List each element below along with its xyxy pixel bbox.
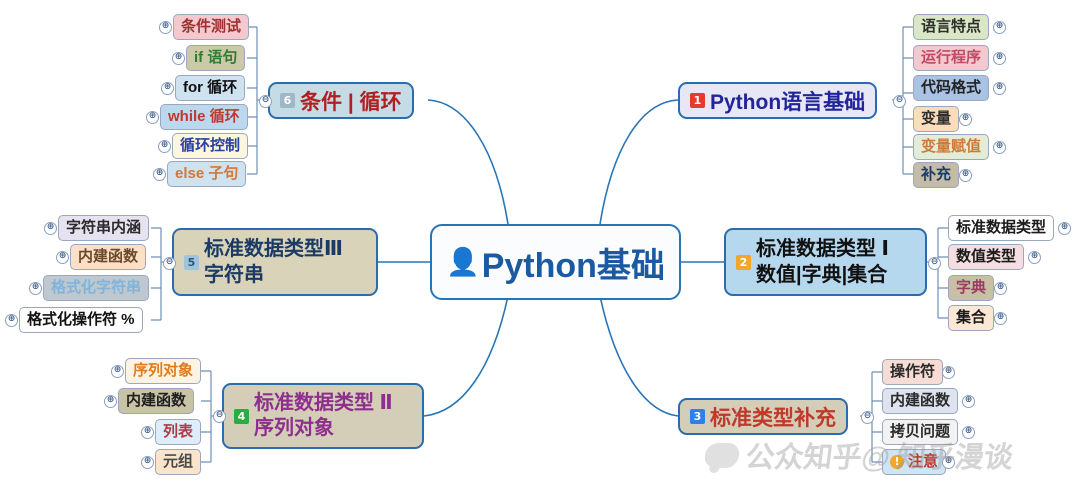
branch-label-2-line1: 标准数据类型 Ⅰ xyxy=(756,236,889,262)
leaf-node-code-format[interactable]: 代码格式 xyxy=(913,75,989,101)
leaf-label: 格式化操作符 % xyxy=(27,308,135,332)
leaf-label: 变量 xyxy=(921,107,951,131)
branch-badge-1: 1 xyxy=(690,93,705,108)
collapse-marker-4[interactable]: ⊖ xyxy=(213,410,226,423)
expander-icon[interactable]: ⊕ xyxy=(1028,251,1041,264)
leaf-label: 序列对象 xyxy=(133,359,193,383)
leaf-node-sequence-object[interactable]: 序列对象 xyxy=(125,358,201,384)
expander-icon[interactable]: ⊕ xyxy=(104,395,117,408)
collapse-marker-3[interactable]: ⊖ xyxy=(861,411,874,424)
warning-icon: ! xyxy=(890,455,904,469)
leaf-label: 代码格式 xyxy=(921,76,981,100)
leaf-label: 标准数据类型 xyxy=(956,216,1046,240)
leaf-label: 格式化字符串 xyxy=(51,276,141,300)
leaf-label: 变量赋值 xyxy=(921,135,981,159)
collapse-marker-6[interactable]: ⊖ xyxy=(259,95,272,108)
expander-icon[interactable]: ⊕ xyxy=(153,168,166,181)
branch-node-5[interactable]: 5 标准数据类型Ⅲ 字符串 xyxy=(172,228,378,296)
branch-label-3: 标准类型补充 xyxy=(710,402,836,432)
expander-icon[interactable]: ⊕ xyxy=(1058,222,1071,235)
watermark-text: 公众知乎@ xyxy=(743,434,892,476)
expander-icon[interactable]: ⊕ xyxy=(993,21,1006,34)
leaf-node-run-program[interactable]: 运行程序 xyxy=(913,45,989,71)
leaf-node-operators[interactable]: 操作符 xyxy=(882,359,943,385)
leaf-label: 运行程序 xyxy=(921,46,981,70)
leaf-label: 内建函数 xyxy=(890,389,950,413)
expander-icon[interactable]: ⊕ xyxy=(962,426,975,439)
leaf-label: 内建函数 xyxy=(78,245,138,269)
expander-icon[interactable]: ⊕ xyxy=(994,282,1007,295)
leaf-label: else 子句 xyxy=(175,162,238,186)
leaf-node-if-statement[interactable]: if 语句 xyxy=(186,45,245,71)
branch-badge-4: 4 xyxy=(234,409,249,424)
leaf-label: 字典 xyxy=(956,276,986,300)
leaf-label: for 循环 xyxy=(183,76,237,100)
leaf-label: 列表 xyxy=(163,420,193,444)
expander-icon[interactable]: ⊕ xyxy=(993,82,1006,95)
expander-icon[interactable]: ⊕ xyxy=(141,426,154,439)
branch-label-5-line2: 字符串 xyxy=(204,262,343,288)
leaf-node-copy-problem[interactable]: 拷贝问题 xyxy=(882,419,958,445)
expander-icon[interactable]: ⊕ xyxy=(959,169,972,182)
wechat-bubble-icon xyxy=(703,443,740,468)
leaf-node-tuple[interactable]: 元组 xyxy=(155,449,201,475)
leaf-label: 补充 xyxy=(921,163,951,187)
leaf-label: 拷贝问题 xyxy=(890,420,950,444)
leaf-label: 操作符 xyxy=(890,360,935,384)
branch-label-4-line2: 序列对象 xyxy=(254,416,393,441)
leaf-label: 循环控制 xyxy=(180,134,240,158)
expander-icon[interactable]: ⊕ xyxy=(959,113,972,126)
leaf-label: 数值类型 xyxy=(956,245,1016,269)
leaf-node-language-features[interactable]: 语言特点 xyxy=(913,14,989,40)
leaf-node-notice[interactable]: ! 注意 xyxy=(882,449,946,475)
leaf-node-builtin-functions-supplement[interactable]: 内建函数 xyxy=(882,388,958,414)
expander-icon[interactable]: ⊕ xyxy=(962,395,975,408)
expander-icon[interactable]: ⊕ xyxy=(146,111,159,124)
leaf-node-dictionary[interactable]: 字典 xyxy=(948,275,994,301)
leaf-node-for-loop[interactable]: for 循环 xyxy=(175,75,245,101)
leaf-label: 语言特点 xyxy=(921,15,981,39)
expander-icon[interactable]: ⊕ xyxy=(56,251,69,264)
expander-icon[interactable]: ⊕ xyxy=(172,52,185,65)
branch-badge-2: 2 xyxy=(736,255,751,270)
branch-node-6[interactable]: 6 条件 | 循环 xyxy=(268,82,414,119)
leaf-node-numeric-type[interactable]: 数值类型 xyxy=(948,244,1024,270)
leaf-node-set[interactable]: 集合 xyxy=(948,305,994,331)
branch-node-2[interactable]: 2 标准数据类型 Ⅰ 数值|字典|集合 xyxy=(724,228,927,296)
expander-icon[interactable]: ⊕ xyxy=(993,141,1006,154)
branch-node-3[interactable]: 3 标准类型补充 xyxy=(678,398,848,435)
leaf-label: 字符串内涵 xyxy=(66,216,141,240)
leaf-label: 条件测试 xyxy=(181,15,241,39)
collapse-marker-5[interactable]: ⊖ xyxy=(163,257,176,270)
leaf-node-format-operator[interactable]: 格式化操作符 % xyxy=(19,307,143,333)
leaf-node-formatted-string[interactable]: 格式化字符串 xyxy=(43,275,149,301)
leaf-label: while 循环 xyxy=(168,105,240,129)
leaf-node-builtin-functions-sequence[interactable]: 内建函数 xyxy=(118,388,194,414)
center-node[interactable]: 👤Python基础 xyxy=(430,224,681,300)
expander-icon[interactable]: ⊕ xyxy=(111,365,124,378)
expander-icon[interactable]: ⊕ xyxy=(158,140,171,153)
leaf-node-list[interactable]: 列表 xyxy=(155,419,201,445)
branch-label-4-line1: 标准数据类型 Ⅱ xyxy=(254,391,393,416)
branch-badge-5: 5 xyxy=(184,255,199,270)
center-node-label: Python基础 xyxy=(482,238,665,287)
expander-icon[interactable]: ⊕ xyxy=(993,52,1006,65)
leaf-node-string-concept[interactable]: 字符串内涵 xyxy=(58,215,149,241)
expander-icon[interactable]: ⊕ xyxy=(29,282,42,295)
leaf-label: 元组 xyxy=(163,450,193,474)
leaf-label: 内建函数 xyxy=(126,389,186,413)
expander-icon[interactable]: ⊕ xyxy=(159,21,172,34)
leaf-label: if 语句 xyxy=(194,46,237,70)
branch-label-5-line1: 标准数据类型Ⅲ xyxy=(204,236,343,262)
branch-label-2-line2: 数值|字典|集合 xyxy=(756,262,889,288)
leaf-node-loop-control[interactable]: 循环控制 xyxy=(172,133,248,159)
collapse-marker-2[interactable]: ⊖ xyxy=(928,257,941,270)
leaf-node-supplement[interactable]: 补充 xyxy=(913,162,959,188)
expander-icon[interactable]: ⊕ xyxy=(5,314,18,327)
expander-icon[interactable]: ⊕ xyxy=(44,222,57,235)
expander-icon[interactable]: ⊕ xyxy=(942,366,955,379)
expander-icon[interactable]: ⊕ xyxy=(994,312,1007,325)
branch-badge-3: 3 xyxy=(690,409,705,424)
leaf-node-else-clause[interactable]: else 子句 xyxy=(167,161,246,187)
leaf-node-variable[interactable]: 变量 xyxy=(913,106,959,132)
branch-label-6: 条件 | 循环 xyxy=(300,86,402,116)
expander-icon[interactable]: ⊕ xyxy=(161,82,174,95)
person-icon: 👤 xyxy=(446,246,480,278)
leaf-node-standard-data-type[interactable]: 标准数据类型 xyxy=(948,215,1054,241)
mind-map-canvas: 👤Python基础 6 条件 | 循环 ⊖ 条件测试 ⊕ if 语句 ⊕ for… xyxy=(0,0,1080,488)
leaf-node-conditional-test[interactable]: 条件测试 xyxy=(173,14,249,40)
branch-node-1[interactable]: 1 Python语言基础 xyxy=(678,82,877,119)
leaf-node-while-loop[interactable]: while 循环 xyxy=(160,104,248,130)
leaf-node-variable-assignment[interactable]: 变量赋值 xyxy=(913,134,989,160)
expander-icon[interactable]: ⊕ xyxy=(942,456,955,469)
branch-label-1: Python语言基础 xyxy=(710,86,865,116)
expander-icon[interactable]: ⊕ xyxy=(141,456,154,469)
leaf-label: 注意 xyxy=(908,450,938,474)
leaf-label: 集合 xyxy=(956,306,986,330)
branch-node-4[interactable]: 4 标准数据类型 Ⅱ 序列对象 xyxy=(222,383,424,449)
leaf-node-builtin-functions-string[interactable]: 内建函数 xyxy=(70,244,146,270)
branch-badge-6: 6 xyxy=(280,93,295,108)
collapse-marker-1[interactable]: ⊖ xyxy=(893,95,906,108)
